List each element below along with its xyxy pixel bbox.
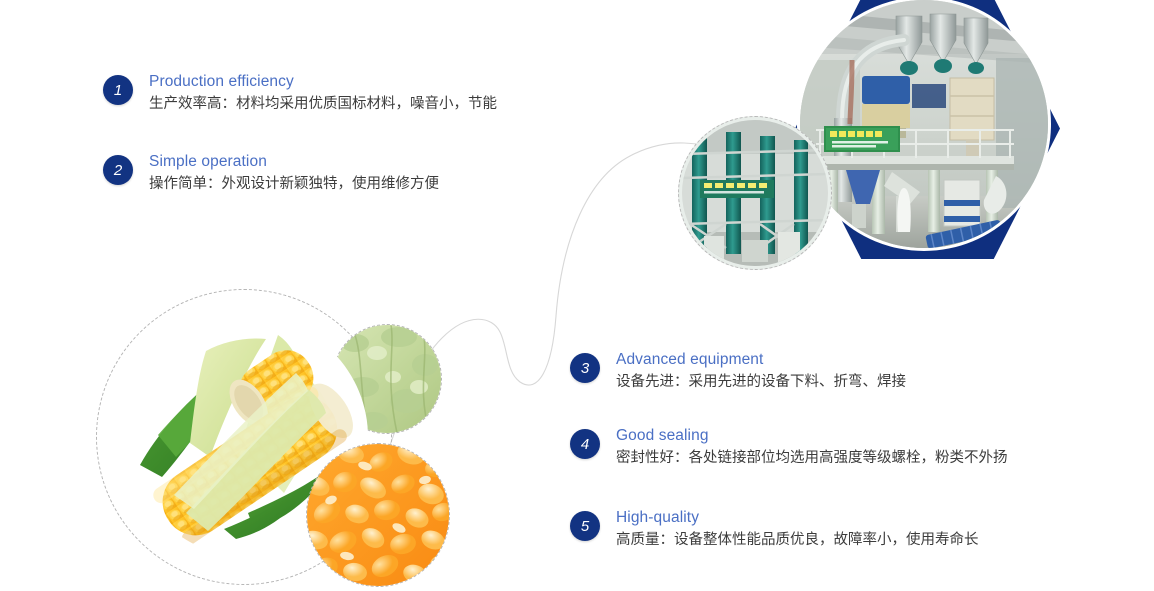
feature-title-1: Production efficiency xyxy=(149,72,497,92)
feature-desc-2: 操作简单：外观设计新颖独特，使用维修方便 xyxy=(149,173,439,195)
corn-kernels-graphic xyxy=(307,444,449,586)
corn-kernels-photo xyxy=(307,444,449,586)
feature-title-3: Advanced equipment xyxy=(616,350,906,370)
feature-desc-3: 设备先进：采用先进的设备下料、折弯、焊接 xyxy=(616,371,906,393)
feature-text-1: Production efficiency 生产效率高：材料均采用优质国标材料，… xyxy=(149,72,497,115)
feature-title-2: Simple operation xyxy=(149,152,439,172)
feature-item-2[interactable]: 2 Simple operation 操作简单：外观设计新颖独特，使用维修方便 xyxy=(103,152,439,195)
factory-photo-small xyxy=(678,116,832,270)
feature-highlights-page: 1 Production efficiency 生产效率高：材料均采用优质国标材… xyxy=(0,0,1154,591)
feature-badge-1: 1 xyxy=(103,75,133,105)
feature-text-4: Good sealing 密封性好：各处链接部位均选用高强度等级螺栓，粉类不外扬 xyxy=(616,426,1008,469)
factory-photo-large xyxy=(800,0,1048,248)
feature-item-5[interactable]: 5 High-quality 高质量：设备整体性能品质优良，故障率小，使用寿命长 xyxy=(570,508,979,551)
feature-badge-5: 5 xyxy=(570,511,600,541)
factory-photo-small-graphic xyxy=(682,120,828,266)
feature-badge-3: 3 xyxy=(570,353,600,383)
feature-badge-4: 4 xyxy=(570,429,600,459)
feature-title-4: Good sealing xyxy=(616,426,1008,446)
feature-text-3: Advanced equipment 设备先进：采用先进的设备下料、折弯、焊接 xyxy=(616,350,906,393)
feature-item-4[interactable]: 4 Good sealing 密封性好：各处链接部位均选用高强度等级螺栓，粉类不… xyxy=(570,426,1008,469)
feature-desc-4: 密封性好：各处链接部位均选用高强度等级螺栓，粉类不外扬 xyxy=(616,447,1008,469)
feature-item-3[interactable]: 3 Advanced equipment 设备先进：采用先进的设备下料、折弯、焊… xyxy=(570,350,906,393)
feature-text-2: Simple operation 操作简单：外观设计新颖独特，使用维修方便 xyxy=(149,152,439,195)
feature-badge-2: 2 xyxy=(103,155,133,185)
corn-photo-cluster xyxy=(90,283,500,591)
feature-text-5: High-quality 高质量：设备整体性能品质优良，故障率小，使用寿命长 xyxy=(616,508,979,551)
hexagon-photo-block xyxy=(660,0,1154,273)
feature-desc-1: 生产效率高：材料均采用优质国标材料，噪音小，节能 xyxy=(149,93,497,115)
feature-item-1[interactable]: 1 Production efficiency 生产效率高：材料均采用优质国标材… xyxy=(103,72,497,115)
feature-desc-5: 高质量：设备整体性能品质优良，故障率小，使用寿命长 xyxy=(616,529,979,551)
factory-photo-large-graphic xyxy=(800,0,1048,248)
feature-title-5: High-quality xyxy=(616,508,979,528)
